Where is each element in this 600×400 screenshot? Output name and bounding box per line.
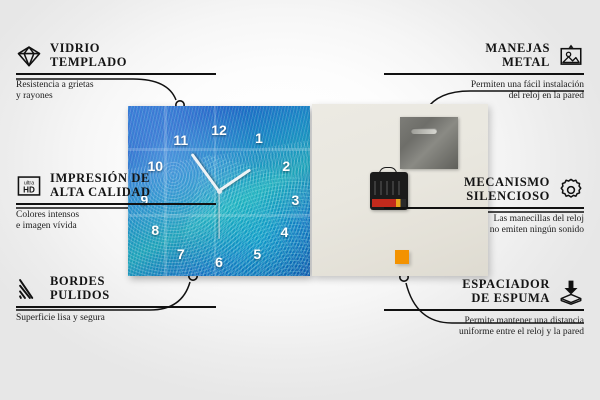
- feature-desc-line1: Resistencia a grietas: [16, 80, 216, 92]
- feature-divider: [16, 306, 216, 308]
- mechanism-hanging-loop: [379, 167, 397, 175]
- feature-desc-line1: Permite mantener una distancia: [384, 316, 584, 328]
- feature-header: MECANISMO SILENCIOSO: [384, 176, 584, 203]
- feature-desc-line2: no emiten ningún sonido: [384, 225, 584, 237]
- feature-desc-line2: uniforme entre el reloj y la pared: [384, 327, 584, 339]
- foam-spacer-icon: [558, 279, 584, 305]
- feature-divider: [384, 309, 584, 311]
- hanger-slot: [411, 128, 437, 134]
- feature-header: ultra HD IMPRESIÓN DE ALTA CALIDAD: [16, 172, 216, 199]
- feature-title: ESPACIADOR DE ESPUMA: [462, 278, 550, 305]
- feature-title-line1: MECANISMO: [464, 176, 550, 190]
- infographic-canvas: 12 1 2 3 4 5 6 7 8 9 10 11: [0, 0, 600, 400]
- feature-title-line2: DE ESPUMA: [462, 292, 550, 306]
- feature-title-line2: TEMPLADO: [50, 56, 127, 70]
- feature-title-line2: ALTA CALIDAD: [50, 186, 151, 200]
- feature-desc-line1: Permiten una fácil instalación: [384, 80, 584, 92]
- diamond-icon: [16, 43, 42, 69]
- feature-header: MANEJAS METAL: [384, 42, 584, 69]
- clock-numeral-1: 1: [255, 131, 263, 145]
- clock-numeral-7: 7: [177, 247, 185, 261]
- clock-numeral-3: 3: [292, 193, 300, 207]
- feature-title: IMPRESIÓN DE ALTA CALIDAD: [50, 172, 151, 199]
- clock-numeral-2: 2: [282, 159, 290, 173]
- feature-divider: [384, 73, 584, 75]
- feature-manejas-metal: MANEJAS METAL Permiten una fácil instala…: [384, 42, 584, 103]
- feature-divider: [384, 207, 584, 209]
- clock-center-cap: [217, 189, 222, 194]
- ultra-hd-icon: ultra HD: [16, 173, 42, 199]
- feature-divider: [16, 73, 216, 75]
- clock-numeral-5: 5: [253, 247, 261, 261]
- feature-title-line1: ESPACIADOR: [462, 278, 550, 292]
- feature-vidrio-templado: VIDRIO TEMPLADO Resistencia a grietas y …: [16, 42, 216, 103]
- feature-title-line2: PULIDOS: [50, 289, 110, 303]
- feature-desc-line1: Superficie lisa y segura: [16, 313, 216, 325]
- feature-title: BORDES PULIDOS: [50, 275, 110, 302]
- feature-impresion-alta-calidad: ultra HD IMPRESIÓN DE ALTA CALIDAD Color…: [16, 172, 216, 233]
- svg-text:HD: HD: [23, 185, 35, 194]
- feature-desc-line2: del reloj en la pared: [384, 91, 584, 103]
- orange-foam-spacer: [395, 250, 409, 264]
- feature-title-line1: VIDRIO: [50, 42, 127, 56]
- feature-title-line1: IMPRESIÓN DE: [50, 172, 151, 186]
- feature-desc-line1: Colores intensos: [16, 210, 216, 222]
- feature-header: BORDES PULIDOS: [16, 275, 216, 302]
- clock-numeral-6: 6: [215, 255, 223, 269]
- gear-icon: [558, 177, 584, 203]
- clock-numeral-4: 4: [281, 225, 289, 239]
- clock-second-hand: [218, 191, 219, 239]
- feature-title-line1: MANEJAS: [485, 42, 550, 56]
- feature-title-line2: METAL: [485, 56, 550, 70]
- feature-title: VIDRIO TEMPLADO: [50, 42, 127, 69]
- feature-desc-line2: e imagen vívida: [16, 221, 216, 233]
- feature-bordes-pulidos: BORDES PULIDOS Superficie lisa y segura: [16, 275, 216, 324]
- feature-desc-line1: Las manecillas del reloj: [384, 214, 584, 226]
- feature-title-line2: SILENCIOSO: [464, 190, 550, 204]
- feature-title-line1: BORDES: [50, 275, 110, 289]
- feature-header: ESPACIADOR DE ESPUMA: [384, 278, 584, 305]
- metal-hanger-plate: [400, 117, 458, 169]
- clock-grid-line: [128, 148, 310, 151]
- feature-divider: [16, 203, 216, 205]
- picture-hanger-icon: [558, 43, 584, 69]
- polished-edge-icon: [16, 276, 42, 302]
- feature-desc-line2: y rayones: [16, 91, 216, 103]
- feature-mecanismo-silencioso: MECANISMO SILENCIOSO Las manecillas del …: [384, 176, 584, 237]
- clock-numeral-11: 11: [173, 133, 188, 147]
- feature-title: MANEJAS METAL: [485, 42, 550, 69]
- feature-espaciador-de-espuma: ESPACIADOR DE ESPUMA Permite mantener un…: [384, 278, 584, 339]
- feature-header: VIDRIO TEMPLADO: [16, 42, 216, 69]
- clock-numeral-12: 12: [211, 123, 227, 137]
- feature-title: MECANISMO SILENCIOSO: [464, 176, 550, 203]
